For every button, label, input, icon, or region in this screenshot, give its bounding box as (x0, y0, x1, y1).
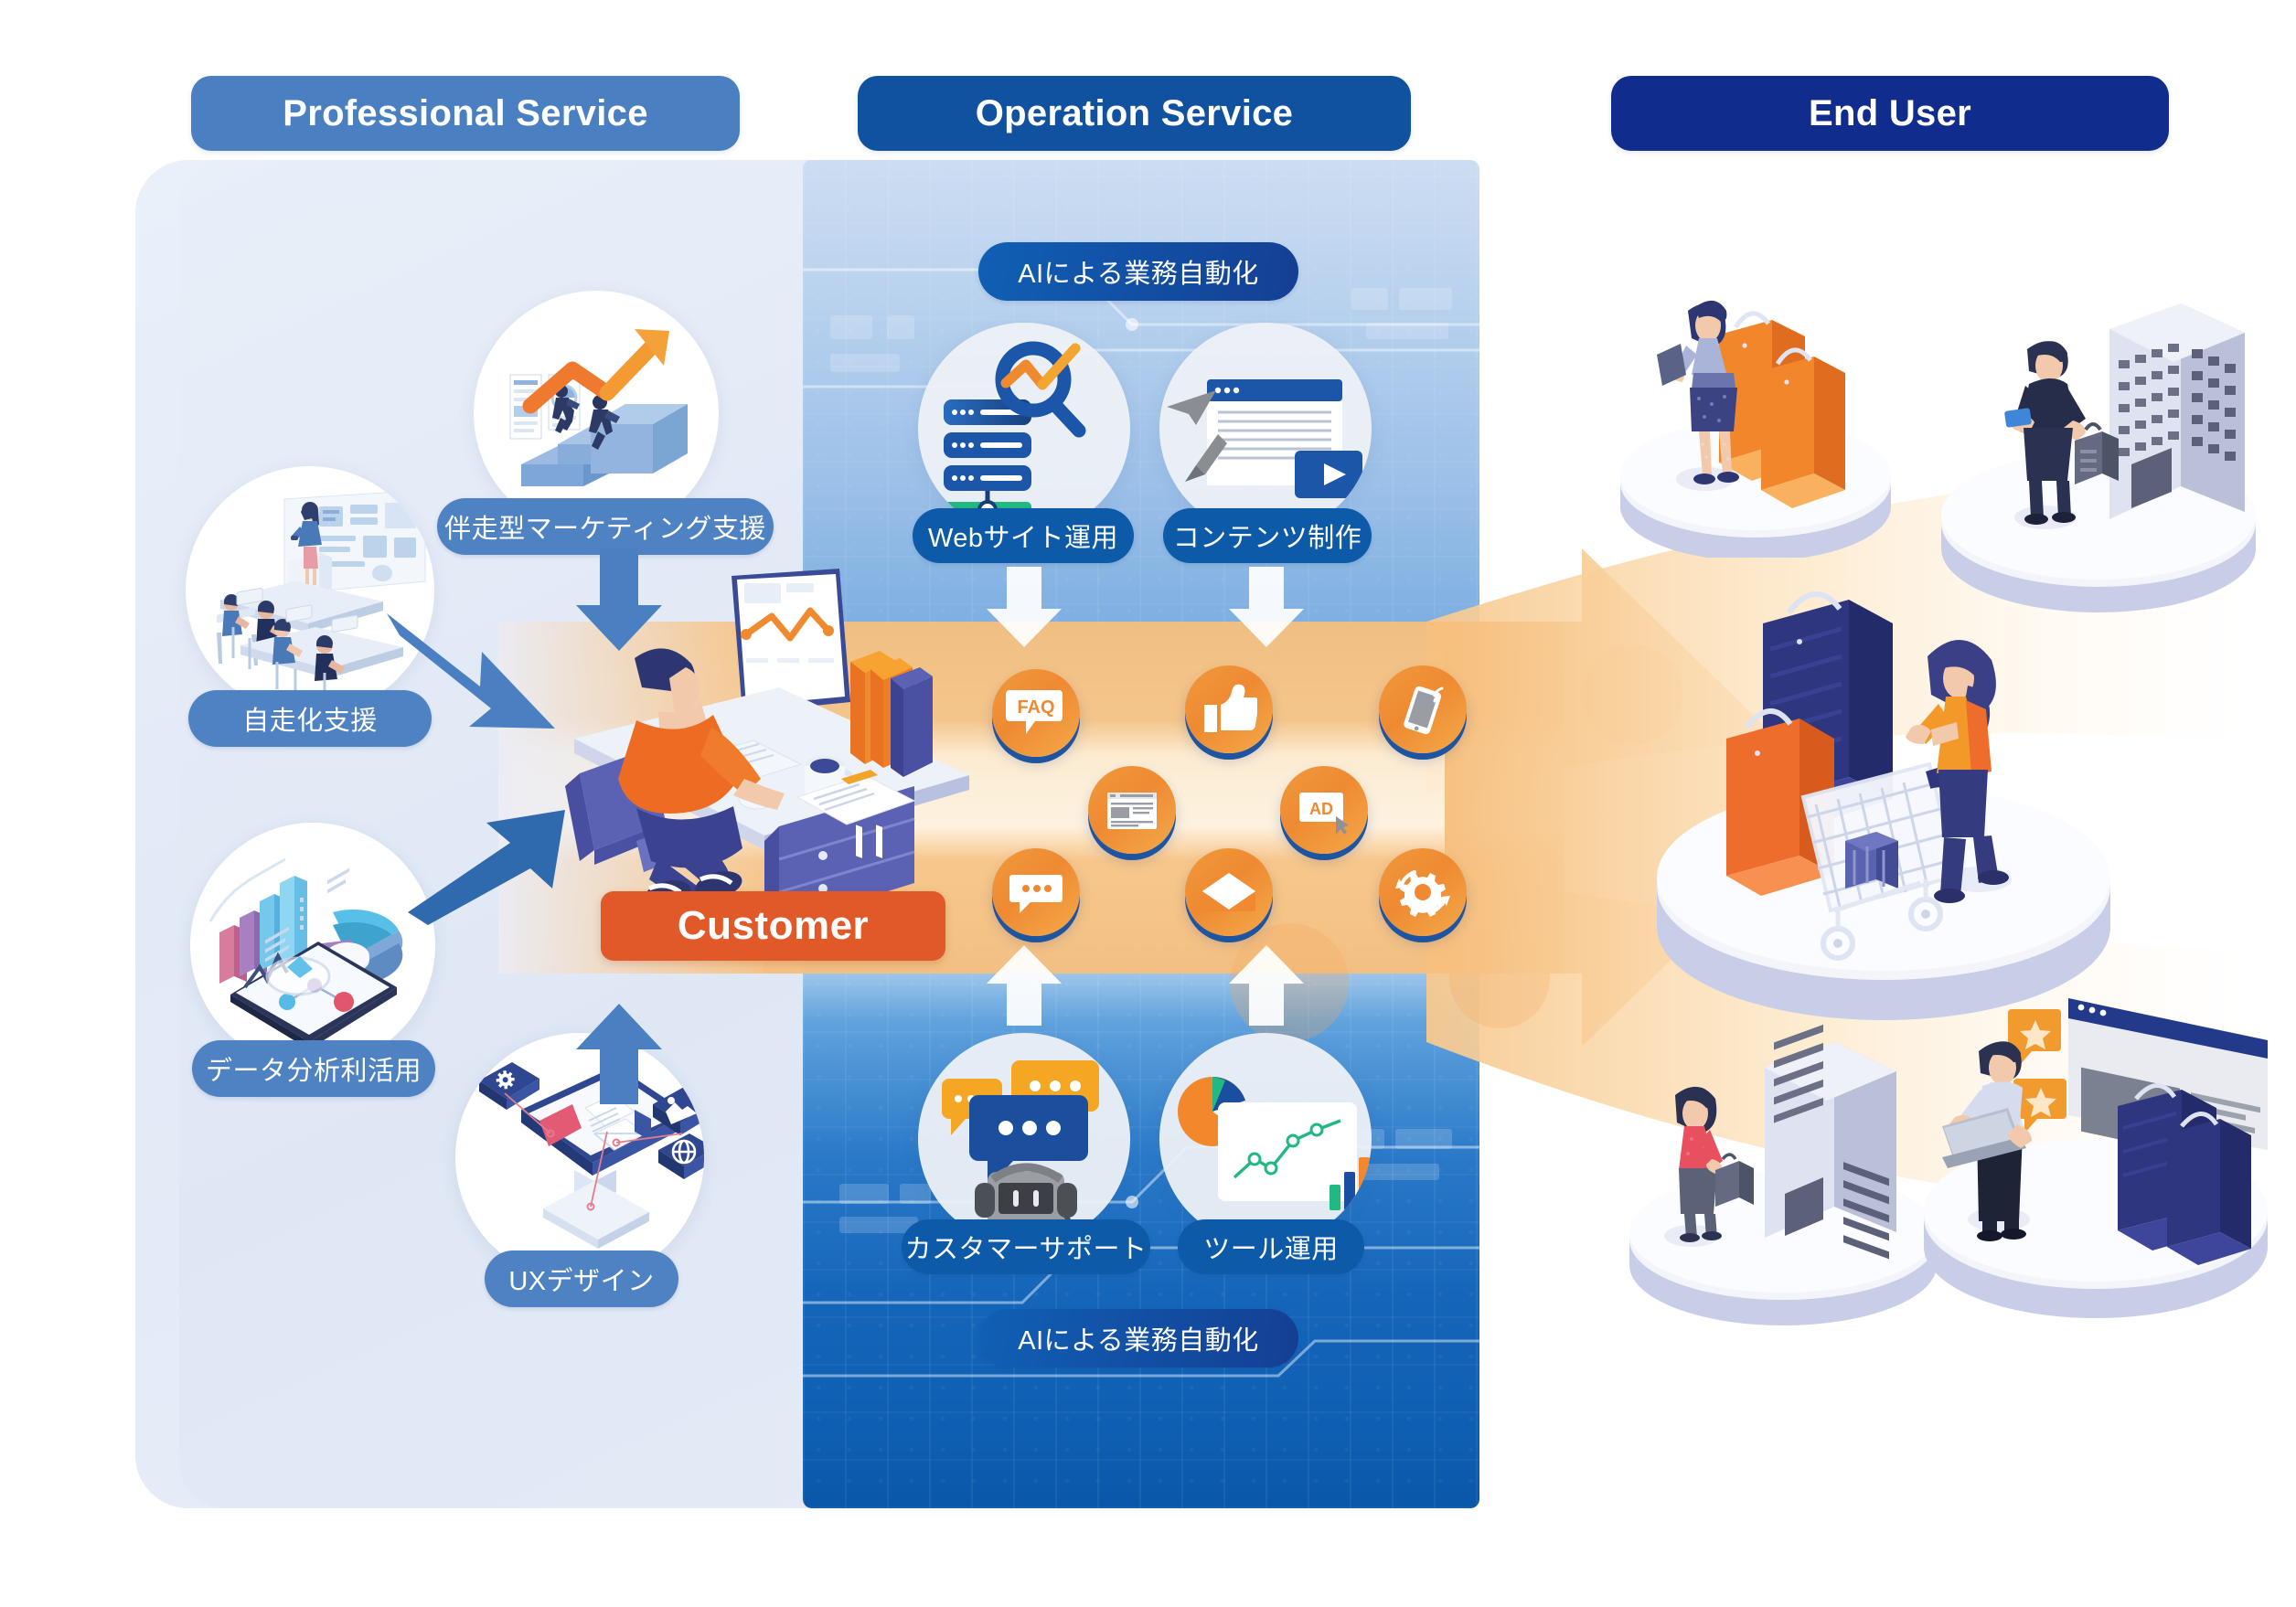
banner-ai-automation-bottom[interactable]: AIによる業務自動化 (978, 1309, 1298, 1368)
pill-marketing-support-label: 伴走型マーケティング支援 (444, 507, 766, 546)
smartphone-signal-icon[interactable] (1379, 665, 1467, 753)
arrow-tools-to-band (1225, 942, 1308, 1026)
svg-text:FAQ: FAQ (1017, 697, 1054, 718)
banner-ai-automation-top-label: AIによる業務自動化 (1018, 252, 1259, 291)
header-professional-service-label: Professional Service (283, 93, 648, 134)
woman-shopping-bags-icon (1609, 283, 1911, 558)
pill-content-production-label: コンテンツ制作 (1173, 516, 1362, 555)
faq-icon[interactable]: FAQ (992, 669, 1080, 757)
web-page-icon[interactable] (1088, 766, 1176, 854)
server-search-icon (918, 323, 1130, 535)
gear-refresh-icon[interactable] (1379, 848, 1467, 936)
man-laptop-reviews-icon (1902, 987, 2295, 1335)
pill-data-analytics[interactable]: データ分析利活用 (192, 1040, 435, 1097)
content-authoring-icon (1159, 323, 1372, 535)
man-phone-building-icon (1906, 293, 2272, 622)
diagram-canvas: Professional Service Operation Service E… (0, 0, 2296, 1607)
open-envelope-icon[interactable] (1185, 848, 1273, 936)
customer-label: Customer (678, 903, 869, 949)
pill-website-operations[interactable]: Webサイト運用 (913, 508, 1134, 563)
pill-data-analytics-label: データ分析利活用 (206, 1049, 422, 1088)
arrow-ux-to-customer (569, 996, 669, 1106)
svg-text:AD: AD (1309, 800, 1333, 818)
chatbot-support-icon (918, 1033, 1130, 1245)
pill-ux-design-label: UXデザイン (508, 1260, 654, 1298)
arrow-analytics-to-customer (402, 804, 571, 928)
pill-tool-operations-label: ツール運用 (1203, 1228, 1339, 1266)
pill-customer-support[interactable]: カスタマーサポート (902, 1219, 1150, 1274)
pill-tool-operations[interactable]: ツール運用 (1178, 1219, 1364, 1274)
arrow-support-to-band (983, 942, 1065, 1026)
header-professional-service: Professional Service (191, 76, 740, 151)
header-operation-service: Operation Service (858, 76, 1411, 151)
arrow-content-to-band (1225, 567, 1308, 649)
woman-shopping-cart-icon (1609, 585, 2158, 1042)
customer-label-badge: Customer (601, 891, 945, 961)
banner-ai-automation-bottom-label: AIによる業務自動化 (1018, 1319, 1259, 1357)
header-end-user-label: End User (1809, 93, 1971, 134)
dashboard-charts-icon (1159, 1033, 1372, 1245)
header-operation-service-label: Operation Service (976, 93, 1293, 134)
pill-website-operations-label: Webサイト運用 (928, 516, 1118, 555)
pill-customer-support-label: カスタマーサポート (905, 1228, 1148, 1266)
pill-content-production[interactable]: コンテンツ制作 (1163, 508, 1372, 563)
pill-ux-design[interactable]: UXデザイン (485, 1250, 678, 1307)
header-end-user: End User (1611, 76, 2169, 151)
pill-self-reliance-support-label: 自走化支援 (242, 699, 378, 738)
data-analytics-icon (190, 823, 435, 1068)
banner-ai-automation-top[interactable]: AIによる業務自動化 (978, 242, 1298, 301)
ad-banner-icon[interactable]: AD (1280, 766, 1368, 854)
arrow-website-to-band (983, 567, 1065, 649)
pill-marketing-support[interactable]: 伴走型マーケティング支援 (437, 498, 774, 555)
chat-bubble-icon[interactable] (992, 848, 1080, 936)
thumbs-up-icon[interactable] (1185, 665, 1273, 753)
arrow-selfreliance-to-customer (379, 599, 562, 754)
